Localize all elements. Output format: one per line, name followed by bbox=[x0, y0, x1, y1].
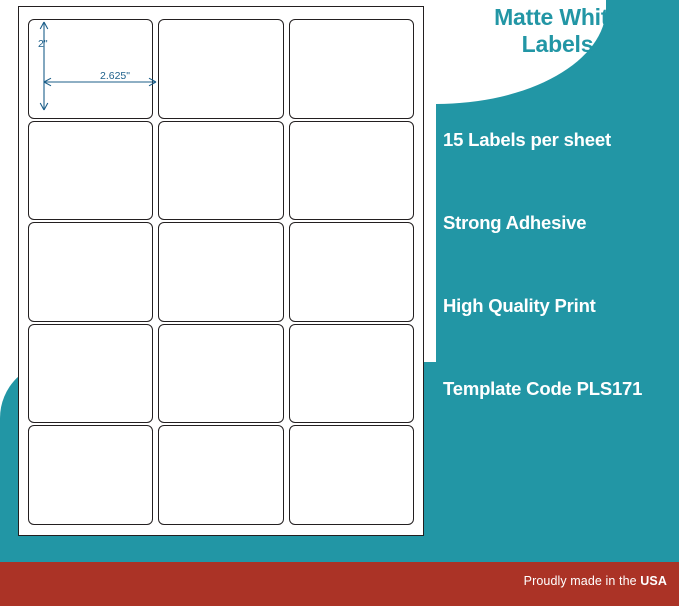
label-cell bbox=[28, 425, 153, 525]
feature-item-template-code: Template Code PLS171 bbox=[443, 377, 679, 400]
label-cell bbox=[289, 19, 414, 119]
made-in-usa-country: USA bbox=[640, 574, 667, 588]
label-cell bbox=[289, 121, 414, 221]
product-graphic: Matte White Labels 15 Labels per sheet S… bbox=[0, 0, 679, 606]
dimension-height-label: 2" bbox=[38, 38, 48, 50]
label-cell bbox=[158, 19, 283, 119]
label-cell bbox=[289, 324, 414, 424]
label-cell bbox=[158, 121, 283, 221]
label-cell bbox=[28, 222, 153, 322]
feature-item-adhesive: Strong Adhesive bbox=[443, 211, 679, 234]
label-cell bbox=[158, 222, 283, 322]
made-in-usa-text: Proudly made in the USA bbox=[524, 574, 667, 588]
feature-list: 15 Labels per sheet Strong Adhesive High… bbox=[443, 128, 679, 401]
feature-item-print-quality: High Quality Print bbox=[443, 294, 679, 317]
label-cell bbox=[28, 324, 153, 424]
label-sheet-outline bbox=[18, 6, 424, 536]
label-grid bbox=[28, 19, 414, 525]
feature-item-labels-per-sheet: 15 Labels per sheet bbox=[443, 128, 679, 151]
dimension-width-label: 2.625" bbox=[100, 70, 130, 82]
label-cell bbox=[28, 121, 153, 221]
label-cell bbox=[289, 222, 414, 322]
label-cell bbox=[289, 425, 414, 525]
headline-line-2: Labels bbox=[436, 31, 679, 58]
label-cell bbox=[28, 19, 153, 119]
label-cell bbox=[158, 425, 283, 525]
footer-bar: Proudly made in the USA bbox=[0, 562, 679, 606]
label-cell bbox=[158, 324, 283, 424]
page-title: Matte White Labels bbox=[436, 4, 679, 58]
headline-line-1: Matte White bbox=[436, 4, 679, 31]
made-in-usa-prefix: Proudly made in the bbox=[524, 574, 641, 588]
